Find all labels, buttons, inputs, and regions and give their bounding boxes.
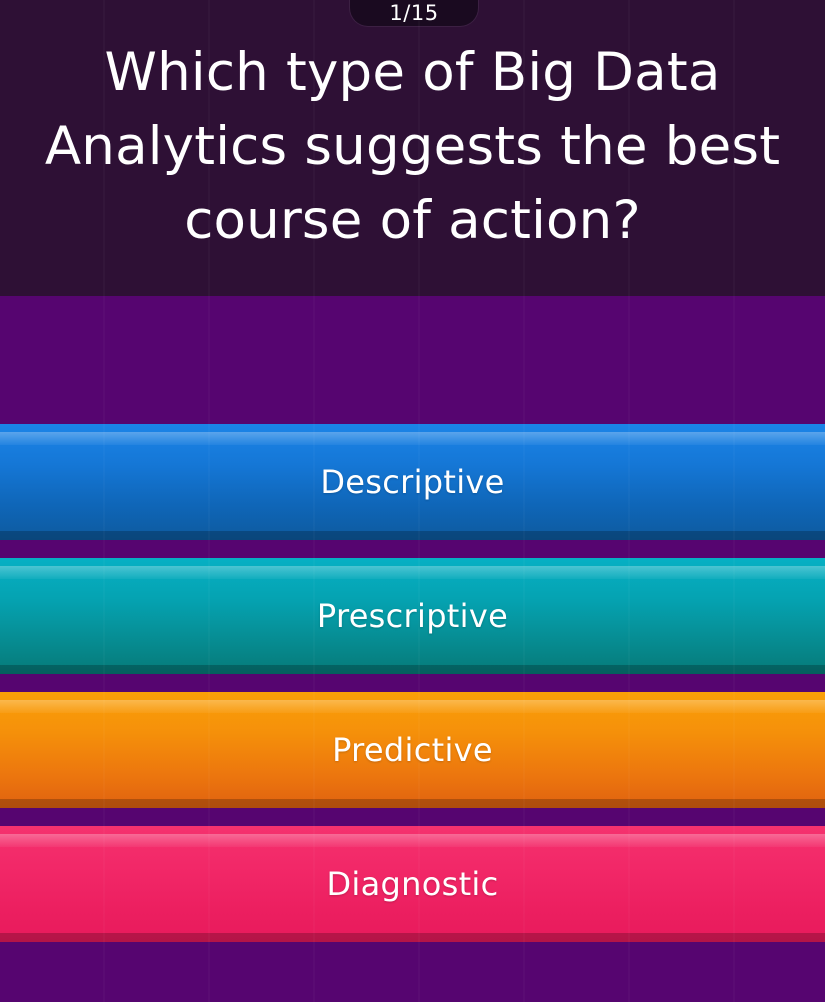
answer-gloss-highlight (0, 834, 825, 847)
answer-option-predictive[interactable]: Predictive (0, 692, 825, 808)
answer-option-prescriptive[interactable]: Prescriptive (0, 558, 825, 674)
question-counter-badge: 1/15 (350, 0, 478, 26)
answer-option-label: Descriptive (320, 463, 504, 501)
answer-option-label: Prescriptive (317, 597, 508, 635)
answer-bottom-edge (0, 933, 825, 942)
answer-bottom-edge (0, 799, 825, 808)
answer-option-label: Predictive (332, 731, 493, 769)
quiz-header: 1/15 Which type of Big Data Analytics su… (0, 0, 825, 296)
answer-gloss-highlight (0, 432, 825, 445)
answer-bottom-edge (0, 665, 825, 674)
answer-option-descriptive[interactable]: Descriptive (0, 424, 825, 540)
question-text: Which type of Big Data Analytics suggest… (0, 36, 825, 258)
answer-options-list: Descriptive Prescriptive Predictive Diag… (0, 424, 825, 942)
answer-option-diagnostic[interactable]: Diagnostic (0, 826, 825, 942)
answer-bottom-edge (0, 531, 825, 540)
answer-gloss-highlight (0, 566, 825, 579)
quiz-screen: 1/15 Which type of Big Data Analytics su… (0, 0, 825, 1002)
question-counter-text: 1/15 (389, 3, 438, 24)
answer-gloss-highlight (0, 700, 825, 713)
answer-option-label: Diagnostic (326, 865, 498, 903)
